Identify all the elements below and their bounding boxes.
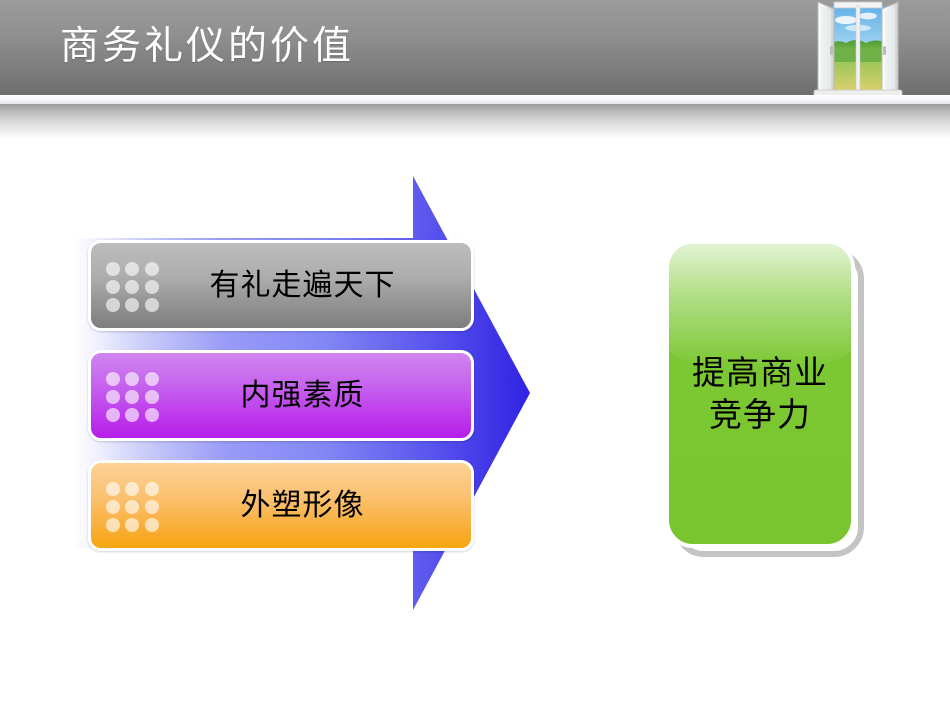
header-gradient-fade [0, 104, 950, 140]
dot-icon [106, 372, 120, 386]
result-card-label-line2: 竞争力 [692, 394, 828, 436]
result-card[interactable]: 提高商业 竞争力 [665, 240, 855, 548]
dot-icon [125, 408, 139, 422]
dot-grid-icon [106, 482, 160, 530]
dot-icon [106, 390, 120, 404]
list-item-label: 内强素质 [164, 378, 471, 414]
list-item-label: 有礼走遍天下 [164, 268, 471, 304]
dot-icon [145, 482, 159, 496]
dot-icon [125, 482, 139, 496]
dot-icon [106, 298, 120, 312]
page-title: 商务礼仪的价值 [60, 22, 354, 72]
dot-icon [145, 518, 159, 532]
dot-icon [125, 500, 139, 514]
dot-icon [145, 298, 159, 312]
result-card-label: 提高商业 竞争力 [692, 352, 828, 436]
window-photo-icon [812, 0, 904, 101]
list-item[interactable]: 有礼走遍天下 [88, 240, 474, 331]
list-item[interactable]: 内强素质 [88, 350, 474, 441]
dot-icon [145, 390, 159, 404]
dot-icon [106, 482, 120, 496]
dot-icon [145, 372, 159, 386]
list-item-label: 外塑形像 [164, 488, 471, 524]
dot-icon [125, 262, 139, 276]
dot-icon [106, 280, 120, 294]
dot-icon [125, 280, 139, 294]
dot-icon [125, 518, 139, 532]
dot-icon [106, 500, 120, 514]
dot-icon [125, 372, 139, 386]
dot-icon [145, 408, 159, 422]
dot-icon [125, 390, 139, 404]
dot-icon [145, 280, 159, 294]
dot-icon [106, 408, 120, 422]
dot-icon [106, 518, 120, 532]
dot-grid-icon [106, 372, 160, 420]
dot-icon [106, 262, 120, 276]
dot-icon [145, 262, 159, 276]
list-item[interactable]: 外塑形像 [88, 460, 474, 551]
dot-icon [125, 298, 139, 312]
header-divider-strip [0, 95, 950, 104]
slide-canvas: 商务礼仪的价值 [0, 0, 950, 713]
dot-icon [145, 500, 159, 514]
result-card-label-line1: 提高商业 [692, 352, 828, 394]
dot-grid-icon [106, 262, 160, 310]
